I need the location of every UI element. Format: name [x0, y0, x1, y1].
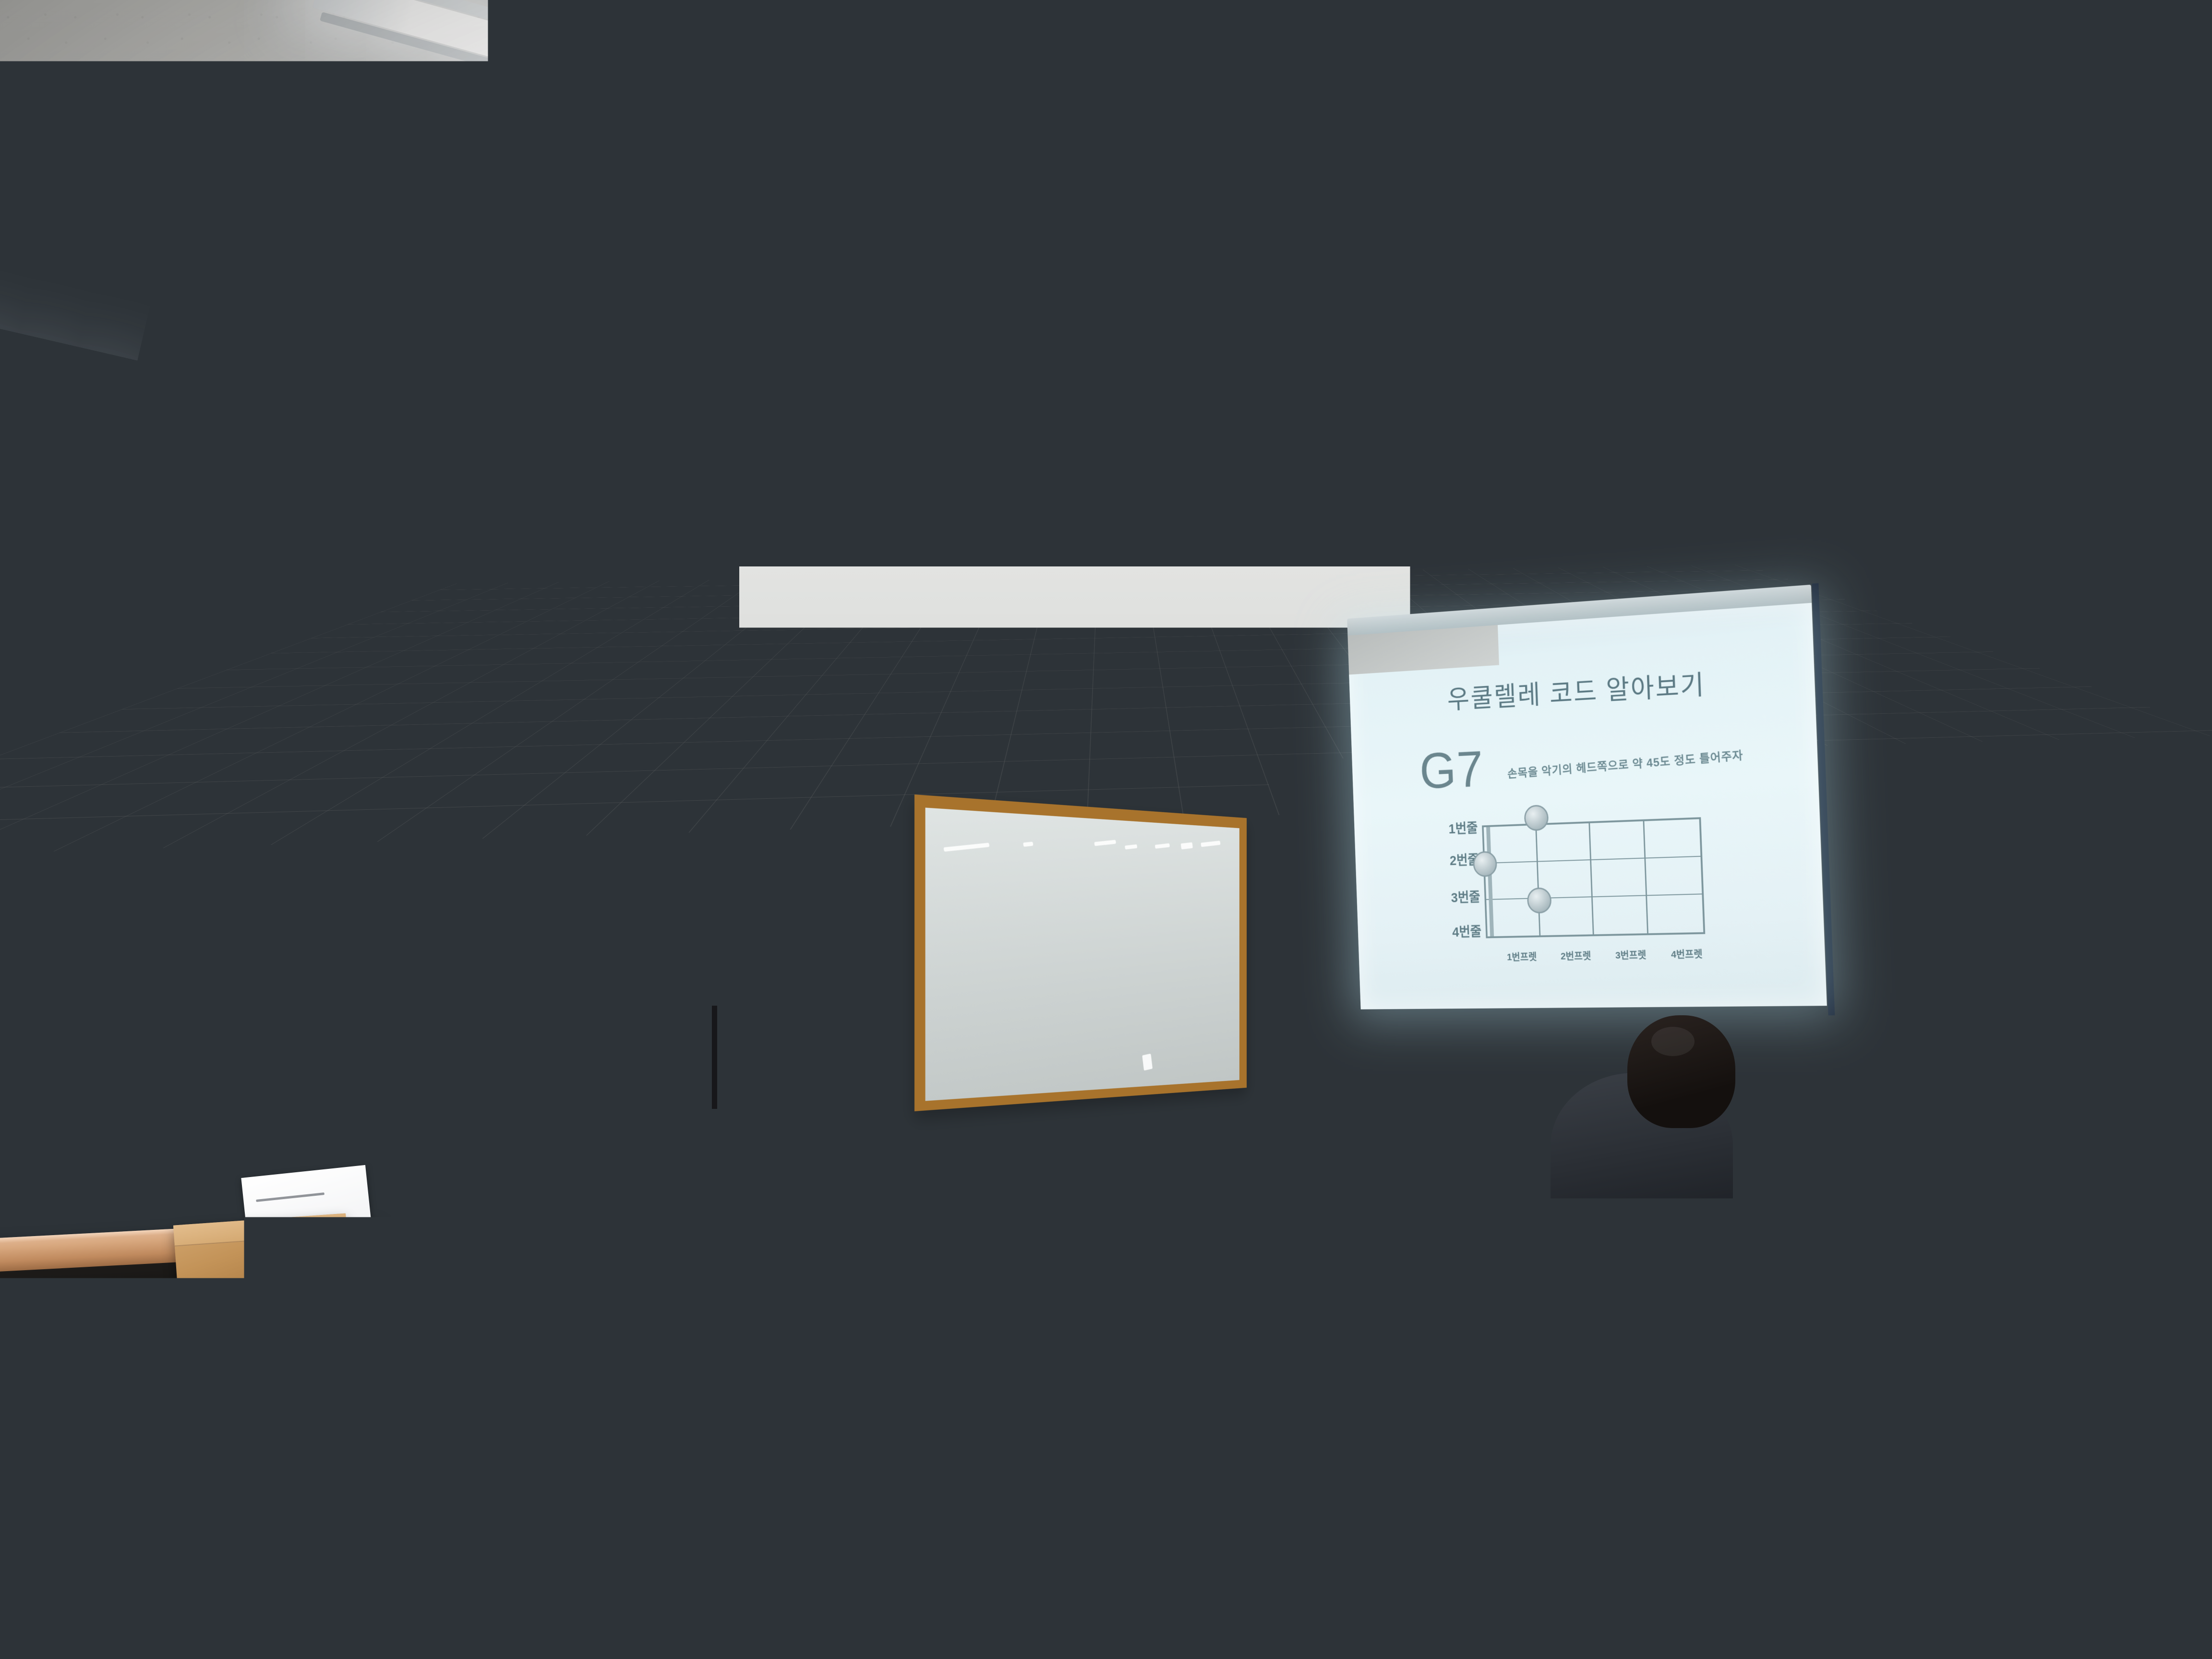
hair-highlight [324, 1132, 423, 1193]
ceiling-sprinkler [1752, 223, 1783, 247]
fret-label-group: 1번프렛 2번프렛 3번프렛 4번프렛 [1495, 946, 1715, 963]
hair-clip [1469, 1104, 1507, 1123]
door-sticker-group [5, 922, 62, 972]
fret-label-2: 2번프렛 [1561, 948, 1591, 962]
hair-highlight [1024, 1053, 1087, 1095]
string-label-group: 1번줄 2번줄 3번줄 4번줄 [1427, 817, 1482, 941]
glass-notice-sheet [235, 864, 374, 922]
hair-highlight [104, 1126, 179, 1171]
wall-speaker [1922, 498, 1986, 565]
whiteboard-glare [1094, 840, 1116, 846]
acrylic-partition [897, 1469, 1388, 1659]
door-sticker [5, 938, 62, 951]
running-man-icon [14, 541, 33, 577]
head [1627, 1015, 1735, 1128]
finger-dot-string3-fret2 [1527, 887, 1552, 914]
jacket-button [923, 1022, 933, 1033]
classroom-chair [1380, 1253, 1630, 1420]
projection-screen-assembly: 우쿨렐레 코드 알아보기 G7 손목을 악기의 헤드쪽으로 약 45도 정도 틀… [1347, 603, 1827, 1010]
whiteboard-glare [1125, 844, 1137, 850]
hand [197, 1440, 269, 1529]
cardboard-box [1785, 1109, 2037, 1185]
finger-dot-string2-fret1 [1473, 851, 1497, 878]
torso [562, 1080, 744, 1238]
reflection2-title: 우쿨렐레 코드 알아보기 [382, 771, 570, 802]
cardboard-box [1838, 1188, 2147, 1270]
classroom-chair [1607, 1168, 1816, 1271]
hair-highlight [1651, 1027, 1695, 1056]
whiteboard-glare [1181, 842, 1193, 850]
classroom-photo: 우쿨렐레 코드 알아보기 G7 손목을 악기의 헤드쪽으로 약 45도 정도 틀… [0, 0, 2212, 1659]
whiteboard-glare [1155, 843, 1170, 849]
bag-logo-icon [2098, 1083, 2120, 1105]
white-shopping-bag [2079, 1042, 2189, 1171]
ac-vane [1470, 219, 1526, 299]
projector-lens-icon [945, 426, 975, 456]
fret-label-4: 4번프렛 [1671, 946, 1703, 961]
hair-highlight [387, 1040, 429, 1067]
paper-line [1328, 1245, 1392, 1251]
acrylic-partition [630, 1267, 954, 1479]
fret-label-3: 3번프렛 [1615, 947, 1646, 962]
reflection2-window-glare [377, 882, 435, 937]
glass-top-rail [0, 365, 778, 379]
fretboard-nut [1486, 827, 1494, 937]
string-label-4: 4번줄 [1452, 921, 1482, 941]
string-label-1: 1번줄 [1448, 817, 1478, 838]
reflection-fret-labels: 1번프렛 2번프렛 3번프렛 4번프렛 [104, 982, 267, 998]
acrylic-partition [0, 1263, 158, 1435]
door-sticker [5, 922, 62, 934]
ceiling-sprinkler [902, 432, 928, 451]
projection-screen: 우쿨렐레 코드 알아보기 G7 손목을 악기의 헤드쪽으로 약 45도 정도 틀… [1347, 603, 1827, 1010]
music-stand [667, 945, 756, 1013]
ukulele-headstock [194, 1368, 239, 1412]
hair-bun [834, 896, 869, 929]
paper-line [1232, 1226, 1318, 1235]
whiteboard-glare [1201, 841, 1220, 847]
slide-chord-name: G7 [1419, 739, 1485, 800]
reflection2-window-glare [510, 879, 567, 934]
projector-label [979, 438, 1002, 448]
face-mask [1375, 1121, 1419, 1158]
ceiling-smoke-detector [833, 365, 874, 397]
hair-highlight [623, 1019, 652, 1039]
classroom-chair [1802, 1262, 2087, 1469]
hair-highlight [1919, 1008, 1955, 1033]
door-sticker [5, 955, 62, 968]
hair-highlight [1423, 1058, 1471, 1090]
emergency-exit-sign [0, 522, 47, 595]
chord-diagram: 1번줄 2번줄 3번줄 4번줄 1번프렛 2번프렛 3번프렛 4번프렛 [1427, 808, 1729, 964]
hair-highlight [1610, 999, 1648, 1024]
reflection-finger-dot [219, 872, 237, 890]
paper-line [1233, 1248, 1296, 1255]
whiteboard-glare [1023, 842, 1034, 847]
reflection-finger-dot [221, 935, 239, 953]
whiteboard-glare [943, 842, 989, 852]
asset-tag-label [1515, 1272, 1543, 1284]
glass-notice-sheet [240, 830, 370, 857]
poster-rail [2158, 564, 2212, 575]
slide-subtitle: 손목을 악기의 헤드쪽으로 약 45도 정도 틀어주자 [1507, 746, 1743, 781]
reflection-title: 우쿨렐레 코드 알아보기 [75, 781, 293, 817]
fretboard-grid [1482, 817, 1705, 938]
reflection2-window-glare [444, 880, 501, 935]
fret-label-1: 1번프렛 [1507, 949, 1537, 963]
asset-tag-label [1947, 1282, 1975, 1293]
string-label-3: 3번줄 [1451, 887, 1480, 906]
reflection2-chord-name: G7 [467, 802, 523, 850]
wall-speaker [594, 639, 659, 687]
finger-dot-string1-fret2 [1524, 805, 1549, 831]
